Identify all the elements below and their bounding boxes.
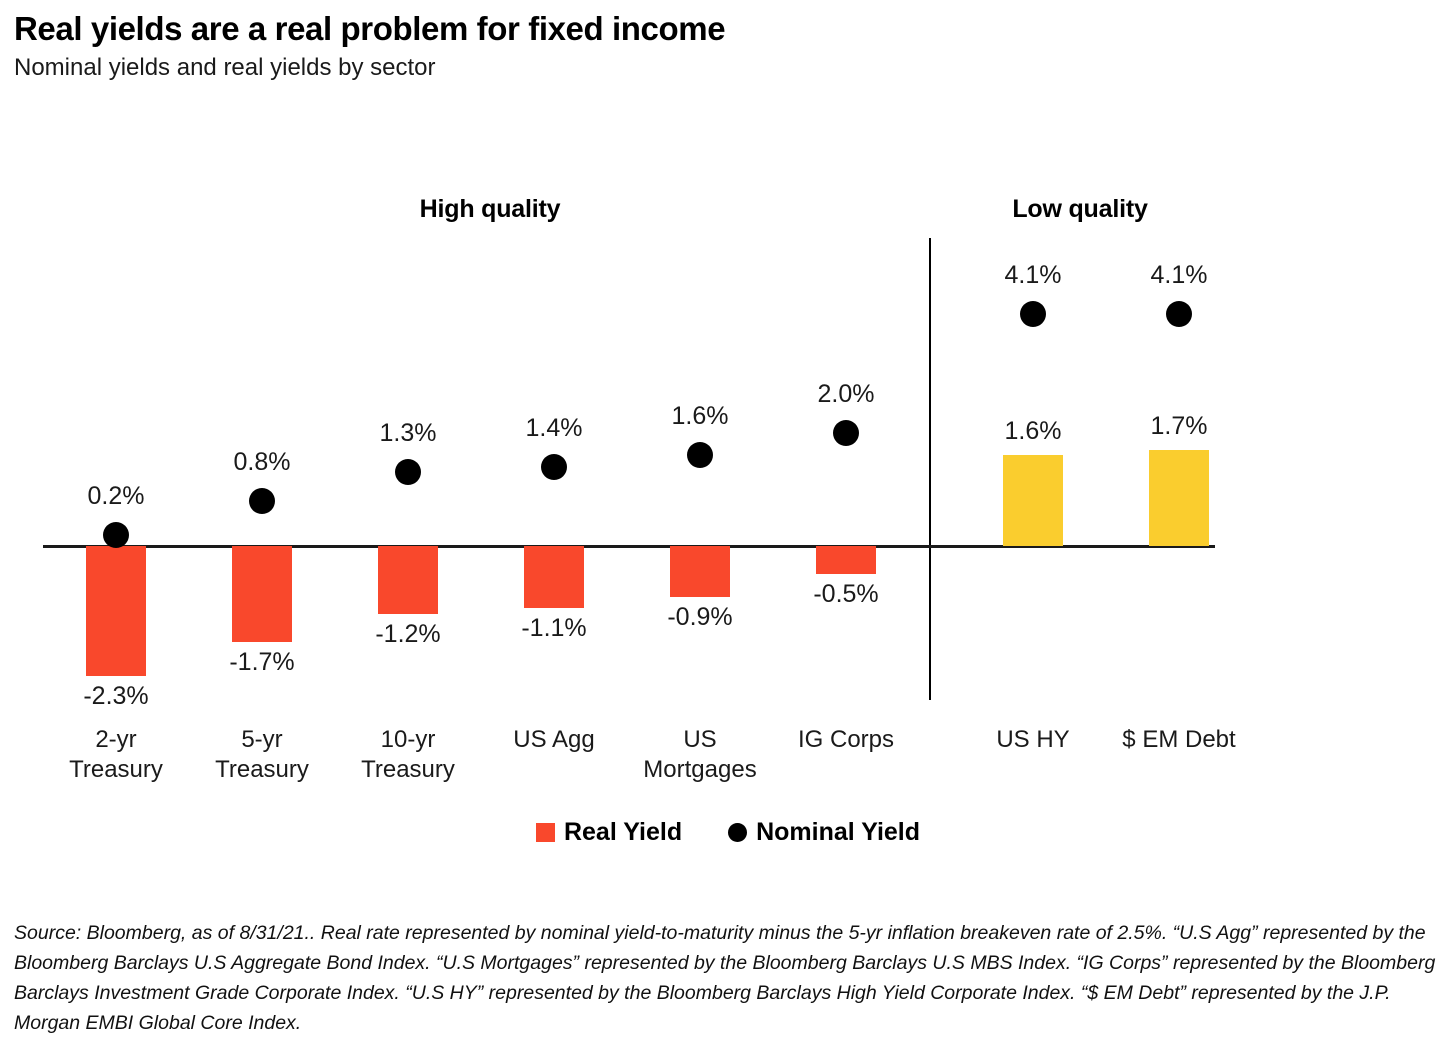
nominal-yield-value-label: 4.1%	[1106, 261, 1252, 290]
chart-column: -1.7%0.8%5-yrTreasury	[189, 150, 335, 810]
chart-column: 1.7%4.1%$ EM Debt	[1106, 150, 1252, 810]
category-label: IG Corps	[773, 725, 919, 755]
nominal-yield-value-label: 1.3%	[335, 419, 481, 448]
category-label-line1: 2-yr	[43, 725, 189, 755]
chart-column: -0.9%1.6%USMortgages	[627, 150, 773, 810]
legend-square-icon	[536, 823, 555, 842]
page-subtitle: Nominal yields and real yields by sector	[14, 54, 1434, 83]
chart-column: -2.3%0.2%2-yrTreasury	[43, 150, 189, 810]
category-label: USMortgages	[627, 725, 773, 785]
category-label-line1: IG Corps	[773, 725, 919, 755]
category-label-line1: US HY	[960, 725, 1106, 755]
chart-column: -1.1%1.4%US Agg	[481, 150, 627, 810]
nominal-yield-dot[interactable]	[541, 454, 567, 480]
legend-circle-icon	[728, 823, 747, 842]
nominal-yield-value-label: 2.0%	[773, 380, 919, 409]
nominal-yield-dot[interactable]	[395, 459, 421, 485]
real-yield-bar[interactable]	[524, 546, 584, 608]
legend-item[interactable]: Nominal Yield	[728, 818, 920, 847]
category-label-line1: 5-yr	[189, 725, 335, 755]
category-label: 10-yrTreasury	[335, 725, 481, 785]
nominal-yield-dot[interactable]	[1166, 301, 1192, 327]
chart-header: Real yields are a real problem for fixed…	[14, 10, 1434, 83]
real-yield-bar[interactable]	[378, 546, 438, 614]
category-label: US HY	[960, 725, 1106, 755]
nominal-yield-value-label: 0.8%	[189, 448, 335, 477]
category-label: $ EM Debt	[1106, 725, 1252, 755]
page-title: Real yields are a real problem for fixed…	[14, 10, 1434, 48]
nominal-yield-dot[interactable]	[687, 442, 713, 468]
nominal-yield-value-label: 0.2%	[43, 482, 189, 511]
chart-legend: Real YieldNominal Yield	[0, 818, 1456, 847]
nominal-yield-value-label: 1.6%	[627, 402, 773, 431]
legend-label: Real Yield	[564, 818, 682, 847]
real-yield-value-label: -0.5%	[773, 580, 919, 609]
chart-column: -0.5%2.0%IG Corps	[773, 150, 919, 810]
real-yield-bar[interactable]	[670, 546, 730, 597]
legend-label: Nominal Yield	[756, 818, 920, 847]
category-label-line1: US	[627, 725, 773, 755]
plot-columns: -2.3%0.2%2-yrTreasury-1.7%0.8%5-yrTreasu…	[0, 150, 1456, 810]
category-label-line2: Treasury	[43, 755, 189, 785]
real-yield-value-label: -2.3%	[43, 682, 189, 711]
real-yield-value-label: -0.9%	[627, 603, 773, 632]
nominal-yield-value-label: 1.4%	[481, 414, 627, 443]
nominal-yield-dot[interactable]	[249, 488, 275, 514]
nominal-yield-dot[interactable]	[1020, 301, 1046, 327]
category-label-line2: Treasury	[335, 755, 481, 785]
category-label: 2-yrTreasury	[43, 725, 189, 785]
category-label: 5-yrTreasury	[189, 725, 335, 785]
category-label-line1: 10-yr	[335, 725, 481, 755]
real-yield-bar[interactable]	[232, 546, 292, 642]
chart-canvas: High quality Low quality -2.3%0.2%2-yrTr…	[0, 150, 1456, 810]
legend-item[interactable]: Real Yield	[536, 818, 682, 847]
nominal-yield-value-label: 4.1%	[960, 261, 1106, 290]
category-label-line1: $ EM Debt	[1106, 725, 1252, 755]
real-yield-bar[interactable]	[86, 546, 146, 676]
source-note: Source: Bloomberg, as of 8/31/21.. Real …	[14, 918, 1442, 1038]
real-yield-value-label: -1.7%	[189, 648, 335, 677]
category-label-line2: Mortgages	[627, 755, 773, 785]
real-yield-value-label: 1.7%	[1106, 412, 1252, 441]
real-yield-bar[interactable]	[1003, 455, 1063, 546]
real-yield-value-label: 1.6%	[960, 417, 1106, 446]
real-yield-value-label: -1.2%	[335, 620, 481, 649]
category-label-line1: US Agg	[481, 725, 627, 755]
real-yield-bar[interactable]	[816, 546, 876, 574]
chart-column: 1.6%4.1%US HY	[960, 150, 1106, 810]
chart-column: -1.2%1.3%10-yrTreasury	[335, 150, 481, 810]
nominal-yield-dot[interactable]	[103, 522, 129, 548]
category-label-line2: Treasury	[189, 755, 335, 785]
real-yield-value-label: -1.1%	[481, 614, 627, 643]
category-label: US Agg	[481, 725, 627, 755]
real-yield-bar[interactable]	[1149, 450, 1209, 546]
nominal-yield-dot[interactable]	[833, 420, 859, 446]
